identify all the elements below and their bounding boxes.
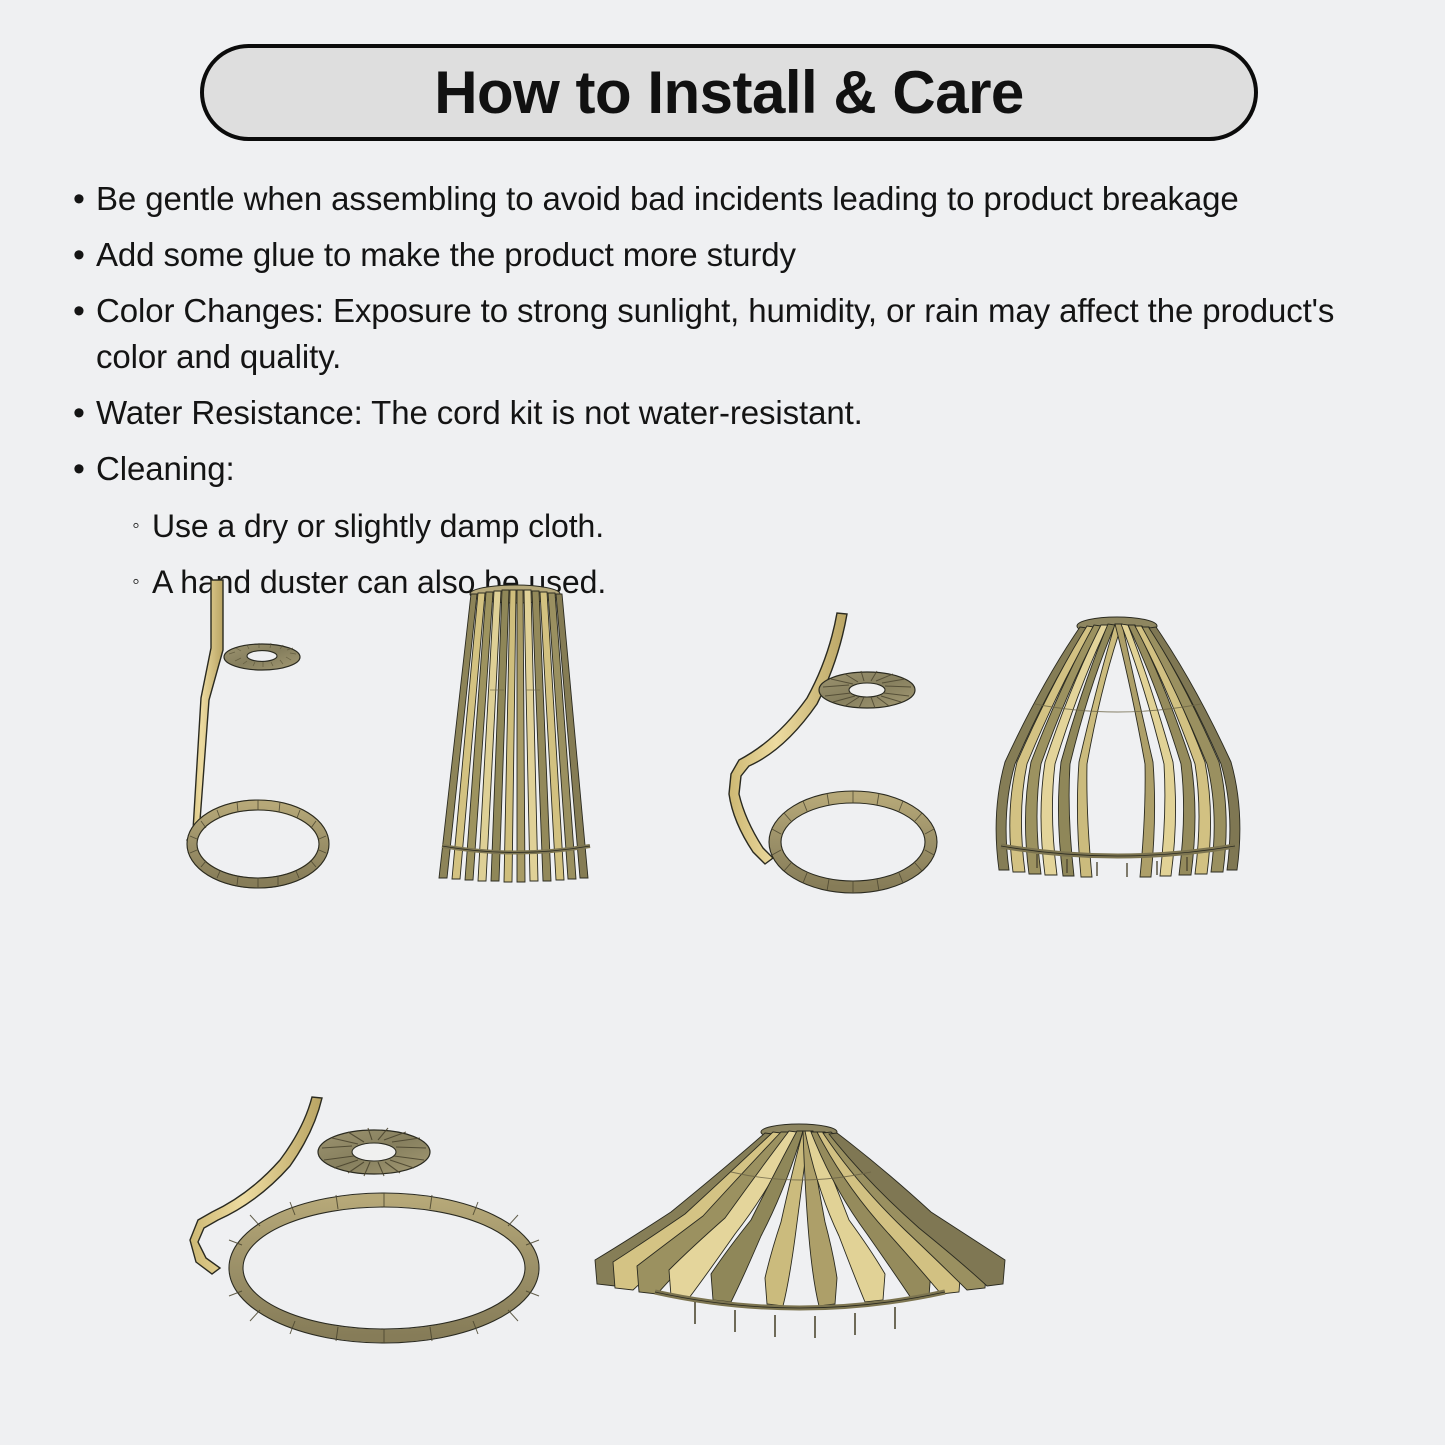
bullet-icon: • [62, 288, 96, 334]
lamp-shade-bulb-illustration [975, 612, 1260, 907]
lamp-frame-bulb-illustration [725, 608, 960, 908]
lamp-frame-cone-illustration [185, 572, 405, 902]
shade-slats [439, 590, 588, 882]
page-title-pill: How to Install & Care [200, 44, 1258, 141]
hub-disc [819, 671, 915, 708]
list-item-label: Be gentle when assembling to avoid bad i… [96, 176, 1239, 222]
frame-arm [729, 613, 847, 864]
shade-lower-ring [655, 1292, 945, 1338]
bullet-icon: • [62, 232, 96, 278]
bullet-icon: • [62, 446, 96, 492]
hub-disc [318, 1128, 430, 1176]
sub-list-item-label: Use a dry or slightly damp cloth. [152, 502, 604, 550]
care-instructions-list: • Be gentle when assembling to avoid bad… [62, 176, 1392, 614]
list-item: • Cleaning: [62, 446, 1392, 492]
install-care-page: How to Install & Care • Be gentle when a… [0, 0, 1445, 1445]
sub-bullet-icon: ◦ [120, 502, 152, 550]
base-ring [769, 791, 937, 893]
list-item: • Color Changes: Exposure to strong sunl… [62, 288, 1392, 380]
list-item: • Add some glue to make the product more… [62, 232, 1392, 278]
lamp-shade-wide-illustration [585, 1120, 1015, 1355]
list-item-label: Water Resistance: The cord kit is not wa… [96, 390, 863, 436]
list-item-label: Add some glue to make the product more s… [96, 232, 796, 278]
list-item-label: Color Changes: Exposure to strong sunlig… [96, 288, 1392, 380]
hub-disc-small [224, 643, 300, 670]
page-title: How to Install & Care [434, 63, 1024, 123]
shade-ribs [595, 1131, 1005, 1306]
sub-list-item: ◦ Use a dry or slightly damp cloth. [120, 502, 1392, 550]
bullet-icon: • [62, 390, 96, 436]
sub-bullet-icon: ◦ [120, 558, 152, 606]
lamp-shade-cone-illustration [408, 578, 623, 903]
frame-arm [190, 1097, 322, 1274]
list-item: • Be gentle when assembling to avoid bad… [62, 176, 1392, 222]
lamp-frame-wide-illustration [188, 1092, 588, 1350]
base-ring [187, 800, 329, 888]
list-item: • Water Resistance: The cord kit is not … [62, 390, 1392, 436]
list-item-label: Cleaning: [96, 446, 235, 492]
base-ring [229, 1193, 539, 1343]
frame-arm [187, 580, 223, 844]
shade-ribs [996, 624, 1240, 877]
bullet-icon: • [62, 176, 96, 222]
